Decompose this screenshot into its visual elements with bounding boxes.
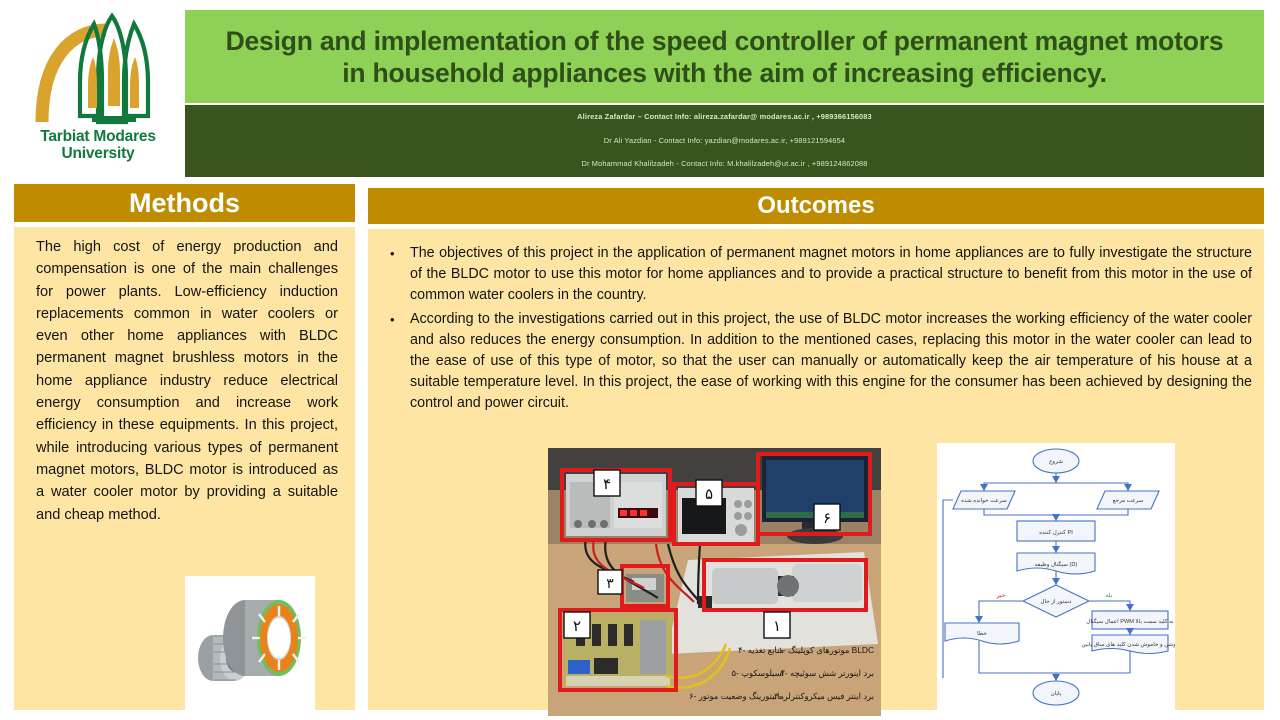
logo-university-name: Tarbiat Modares University xyxy=(28,128,168,162)
methods-paragraph: The high cost of energy production and c… xyxy=(36,236,338,526)
flow-label-decision: دستور از حال xyxy=(1040,598,1072,605)
test-bench-setup-photo: ۴ ۵ ۶ ۳ ۲ ۱ ۱- موتورهای کوپلینگ BLDC ۴- … xyxy=(548,448,881,716)
outcomes-bullet-list: • The objectives of this project in the … xyxy=(380,243,1252,417)
logo-zone: Tarbiat Modares University xyxy=(0,0,185,178)
flow-label-switch: روشن و خاموش شدن کلید های ساق پایین xyxy=(1081,641,1175,648)
lab-caption-3: ۳- برد اینتر فیس میکروکنترلر xyxy=(774,691,874,701)
outcomes-section-header: Outcomes xyxy=(368,188,1264,224)
list-item: • The objectives of this project in the … xyxy=(380,243,1252,307)
methods-section-header: Methods xyxy=(14,184,355,222)
svg-text:۵: ۵ xyxy=(705,486,713,503)
outcomes-bullet-text: According to the investigations carried … xyxy=(410,311,1252,412)
motor-photo-illustration xyxy=(185,576,315,710)
flowchart-illustration: شروع سرعت خوانده شده سرعت مرجع کنترل کنن… xyxy=(937,443,1175,716)
flow-label-start: شروع xyxy=(1049,459,1063,465)
bldc-motor-stator-rotor-photo xyxy=(185,576,315,710)
contact-line-1: Alireza Zafardar – Contact Info: alireza… xyxy=(185,112,1264,121)
university-logo: Tarbiat Modares University xyxy=(28,10,168,175)
lab-caption-4: ۴- منابع تغذیه xyxy=(738,645,784,655)
bullet-glyph: • xyxy=(390,243,395,264)
svg-text:۶: ۶ xyxy=(823,510,831,527)
flow-label-no: خیر xyxy=(996,593,1006,599)
bullet-glyph: • xyxy=(390,309,395,330)
list-item: • According to the investigations carrie… xyxy=(380,309,1252,415)
control-algorithm-flowchart: شروع سرعت خوانده شده سرعت مرجع کنترل کنن… xyxy=(937,443,1175,716)
poster-root: Tarbiat Modares University Design and im… xyxy=(0,0,1280,720)
lab-caption-2: ۲- برد اینورتر شش سوئیچه xyxy=(780,668,874,678)
svg-text:۳: ۳ xyxy=(606,575,614,591)
lab-caption-6: ۶- مانیتورینگ وضعیت موتور xyxy=(689,691,784,701)
contact-info-band: Alireza Zafardar – Contact Info: alireza… xyxy=(185,105,1264,177)
svg-text:۱: ۱ xyxy=(773,618,781,635)
flow-label-pi: کنترل کننده PI xyxy=(1039,529,1073,536)
flow-label-end: پایان xyxy=(1051,690,1062,697)
poster-title-band: Design and implementation of the speed c… xyxy=(185,10,1264,103)
logo-name-line2: University xyxy=(62,145,135,162)
outcomes-heading-label: Outcomes xyxy=(757,192,874,220)
flow-label-duty: سیگنال وظیفه (D) xyxy=(1035,560,1078,568)
svg-text:۲: ۲ xyxy=(573,618,581,635)
outcomes-bullet-text: The objectives of this project in the ap… xyxy=(410,245,1252,303)
logo-name-line1: Tarbiat Modares xyxy=(40,128,156,145)
svg-text:۴: ۴ xyxy=(603,476,611,493)
flow-label-error: خطا xyxy=(977,630,987,637)
flow-label-pwm: اعمال سیگنال PWM به کلید سمت بالا xyxy=(1086,617,1174,625)
contact-line-3: Dr Mohammad Khalilzadeh - Contact Info: … xyxy=(185,159,1264,168)
flow-label-yes: بله xyxy=(1106,592,1113,599)
page-title: Design and implementation of the speed c… xyxy=(220,25,1230,89)
tarbiat-modares-tulip-logo-icon xyxy=(28,10,168,130)
lab-caption-1: ۱- موتورهای کوپلینگ BLDC xyxy=(778,645,874,655)
lab-photo-illustration: ۴ ۵ ۶ ۳ ۲ ۱ ۱- موتورهای کوپلینگ BLDC ۴- … xyxy=(548,448,881,716)
lab-caption-5: ۵- اسیلوسکوپ xyxy=(732,668,784,678)
contact-line-2: Dr Ali Yazdian - Contact Info: yazdian@m… xyxy=(185,136,1264,145)
methods-heading-label: Methods xyxy=(129,188,240,219)
flow-label-input-left: سرعت خوانده شده xyxy=(961,497,1007,504)
flow-label-input-right: سرعت مرجع xyxy=(1113,498,1144,504)
